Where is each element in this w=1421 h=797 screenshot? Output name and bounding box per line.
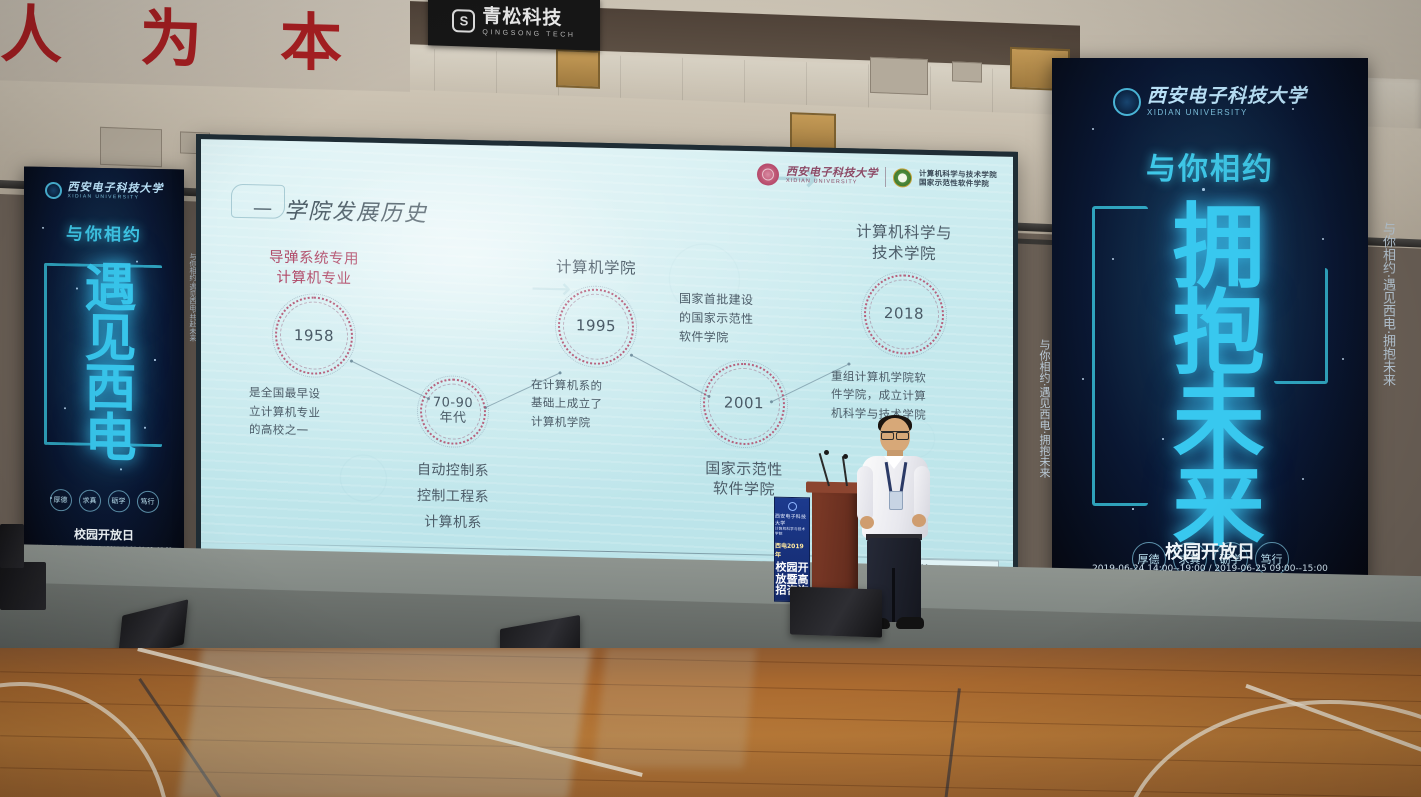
gym-floor (0, 648, 1421, 797)
microphone-head-icon (824, 450, 829, 455)
xidian-seal-icon (45, 182, 62, 199)
banner-right-outer-column: 与你相约·遇见西电·拥抱未来 (1378, 24, 1397, 584)
hall-door (556, 49, 600, 89)
banner-left-event: 校园开放日 (24, 524, 184, 544)
logo-divider (885, 167, 886, 187)
sponsor-sign: 青松科技 QINGSONG TECH (428, 0, 600, 51)
xidian-seal-icon (788, 502, 797, 511)
banner-left: 西安电子科技大学 XIDIAN UNIVERSITY 与你相约 遇见西电 厚德 … (24, 166, 184, 569)
stage-monitor-speaker (790, 586, 882, 637)
presenter-shoe-right (896, 617, 924, 629)
motto-badge: 砺学 (108, 490, 130, 512)
timeline-body: 在计算机系的 基础上成立了 计算机学院 (531, 375, 661, 433)
timeline-ring: 2018 (864, 273, 944, 355)
timeline-ring: 70-90 年代 (420, 378, 486, 445)
banner-left-hero-text: 遇见西电 (79, 260, 129, 461)
banner-left-hero: 遇见西电 (24, 258, 184, 470)
podium-org: 西安电子科技大学 (775, 513, 809, 528)
timeline-body: 国家示范性 软件学院 (679, 457, 809, 500)
slide-title: 学院发展历史 (284, 193, 428, 228)
slide-university-en: XIDIAN UNIVERSITY (786, 178, 878, 186)
floor-court-dark-line (942, 688, 961, 797)
banner-right-hero: 拥抱未来 (1052, 198, 1368, 555)
banner-right-inner-text: 与你相约·遇见西电·拥抱未来 (1036, 339, 1052, 478)
timeline-node-1958[interactable]: 导弹系统专用 计算机专业 1958 是全国最早设 立计算机专业 的高校之一 (249, 248, 379, 441)
timeline-heading: 计算机学院 (531, 256, 661, 280)
banner-right-subtitle: 与你相约 (1052, 144, 1368, 188)
timeline-heading: 导弹系统专用 计算机专业 (249, 248, 379, 290)
banner-right-inner-column: 与你相约·遇见西电·拥抱未来 (1036, 248, 1052, 568)
wall-panel (870, 57, 928, 95)
court-center-circle (0, 682, 170, 797)
timeline-node-2001[interactable]: 国家首批建设 的国家示范性 软件学院 2001 国家示范性 软件学院 (679, 290, 809, 501)
floor-screen-reflection (178, 648, 592, 797)
court-three-point-arc (1120, 700, 1421, 797)
presenter-hand-right (912, 514, 926, 527)
timeline-year: 2001 (724, 394, 764, 412)
hall-slogan-char: 本 (280, 11, 342, 75)
presenter-arm-right (914, 466, 930, 520)
timeline-body: 是全国最早设 立计算机专业 的高校之一 (249, 383, 379, 441)
lectern-top (806, 482, 862, 494)
wall-panel (100, 127, 162, 167)
sponsor-name-cn: 青松科技 (482, 7, 575, 29)
presenter-hand-left (860, 516, 874, 529)
gymnasium-scene: 人 为 本 青松科技 QINGSONG TECH 西安电子科技大学 XIDIAN… (0, 0, 1421, 797)
presenter-leg-separation (892, 568, 895, 622)
hall-slogan-banner: 人 为 本 (0, 0, 410, 92)
podium-year: 西电2019年 (775, 541, 809, 560)
timeline-year: 2018 (884, 305, 924, 323)
hall-slogan-char: 为 (140, 7, 202, 71)
presenter-arm-left (857, 466, 873, 522)
banner-right: 西安电子科技大学 XIDIAN UNIVERSITY 与你相约 拥抱未来 厚德 … (1052, 58, 1368, 586)
banner-left-mottos: 厚德 求真 砺学 笃行 (24, 488, 184, 513)
floor-light-reflection (594, 648, 757, 768)
slide-title-marker: 一 (253, 195, 272, 222)
presenter-glasses (881, 431, 909, 437)
sponsor-name-en: QINGSONG TECH (482, 29, 575, 39)
banner-right-university-cn: 西安电子科技大学 (1147, 86, 1307, 108)
motto-badge: 厚德 (50, 489, 72, 511)
podium-org-sub: 计算机科学与技术学院 (775, 527, 809, 538)
xidian-seal-icon (1113, 88, 1141, 116)
xidian-seal-icon (757, 163, 779, 185)
school-badge-icon (893, 168, 912, 187)
timeline-ring: 2001 (703, 362, 785, 446)
side-speaker-stack (0, 562, 46, 610)
banner-right-logo: 西安电子科技大学 XIDIAN UNIVERSITY (1052, 86, 1368, 117)
timeline-year: 1958 (294, 327, 334, 345)
timeline-node-70-90[interactable]: 70-90 年代 自动控制系 控制工程系 计算机系 (393, 377, 513, 537)
wall-panel (952, 61, 982, 82)
hall-slogan-char: 人 (0, 3, 62, 67)
slide-school-line2: 国家示范性软件学院 (919, 178, 997, 189)
banner-right-event: 校园开放日 (1052, 538, 1368, 564)
banner-right-university-en: XIDIAN UNIVERSITY (1147, 108, 1307, 117)
banner-right-outer-text: 与你相约·遇见西电·拥抱未来 (1378, 222, 1397, 386)
motto-badge: 笃行 (137, 491, 159, 513)
timeline-node-1995[interactable]: 计算机学院 1995 在计算机系的 基础上成立了 计算机学院 (531, 256, 661, 433)
lectern (812, 487, 858, 600)
timeline-body: 自动控制系 控制工程系 计算机系 (393, 457, 513, 537)
side-speaker-cabinet (0, 524, 24, 568)
banner-left-subtitle: 与你相约 (24, 218, 184, 246)
timeline-heading: 国家首批建设 的国家示范性 软件学院 (679, 290, 809, 350)
timeline-ring: 1995 (558, 288, 634, 366)
qingsong-logo-icon (452, 9, 475, 33)
banner-right-hero-text: 拥抱未来 (1166, 198, 1254, 542)
banner-left-logo: 西安电子科技大学 XIDIAN UNIVERSITY (24, 180, 184, 201)
presenter-badge (889, 491, 903, 510)
microphone-head-icon (843, 454, 848, 459)
slide-title-group: 一 学院发展历史 (253, 192, 428, 228)
timeline-ring: 1958 (275, 296, 353, 376)
motto-badge: 求真 (79, 490, 101, 512)
timeline-year: 70-90 年代 (433, 396, 473, 427)
timeline-year: 1995 (576, 318, 616, 336)
timeline-node-2018[interactable]: 计算机科学与 技术学院 2018 重组计算机学院软 件学院，成立计算 机科学与技… (831, 221, 977, 425)
timeline-heading: 计算机科学与 技术学院 (831, 221, 977, 266)
